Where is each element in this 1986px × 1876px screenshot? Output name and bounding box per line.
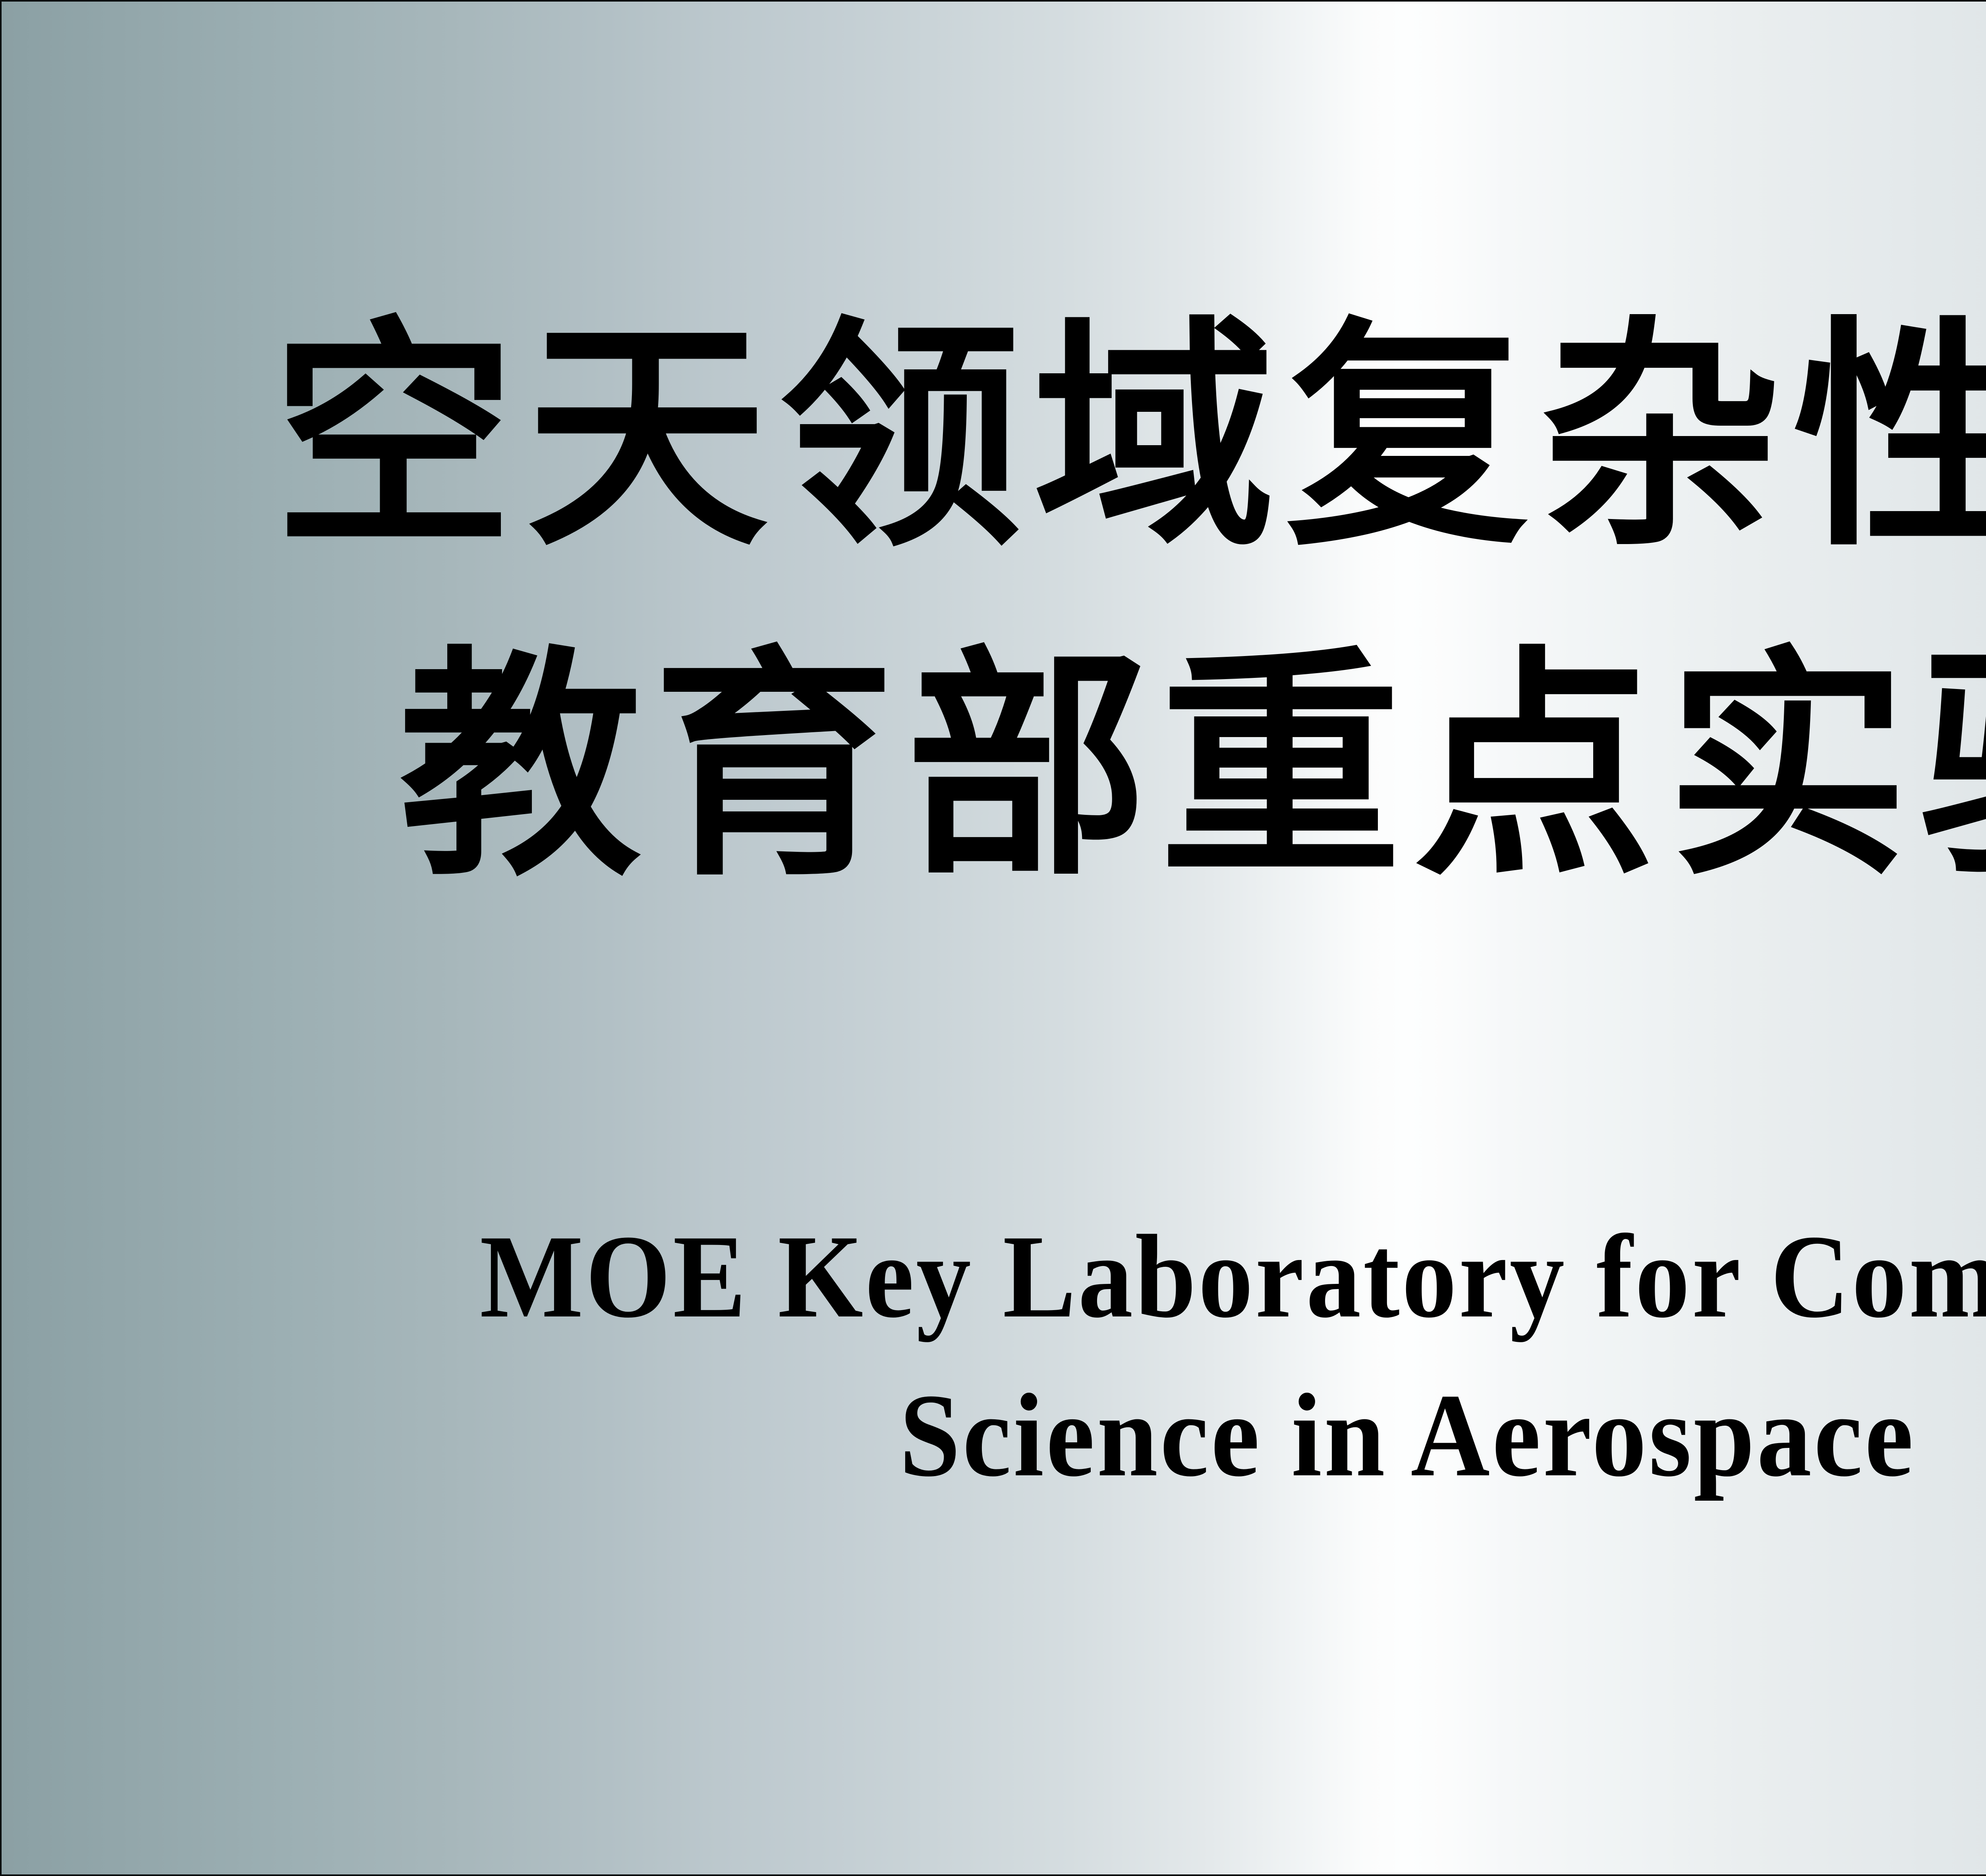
laboratory-name-plaque: 空天领域复杂性科学 教育部重点实验室 MOE Key Laboratory fo…: [0, 0, 1986, 1876]
chinese-title-line-1: 空天领域复杂性科学: [261, 315, 1986, 558]
english-title-line-2: Science in Aerospace: [899, 1376, 1915, 1495]
plaque-inscription: 空天领域复杂性科学 教育部重点实验室 MOE Key Laboratory fo…: [2, 2, 1986, 1874]
english-title-line-1: MOE Key Laboratory for Complexity: [480, 1217, 1986, 1336]
chinese-title-line-2: 教育部重点实验室: [388, 645, 1986, 887]
